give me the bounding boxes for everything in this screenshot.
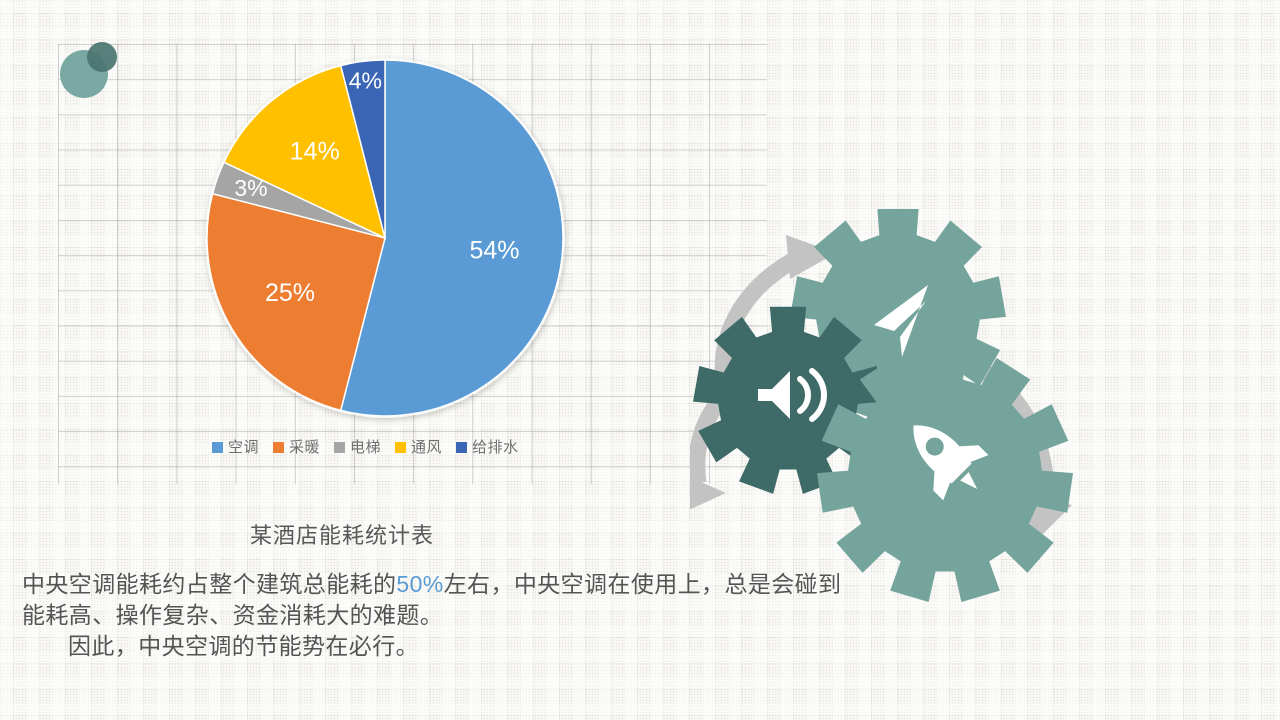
slide-canvas: 54%25%3%14%4% 空调采暖电梯通风给排水 某酒店能耗统计表 中央空调能…	[0, 0, 1280, 720]
legend-label: 通风	[411, 440, 442, 455]
pie-slice-label-通风: 14%	[290, 138, 340, 166]
legend-label: 空调	[228, 440, 259, 455]
legend-label: 给排水	[472, 440, 519, 455]
pie-chart-svg: 54%25%3%14%4%	[205, 58, 565, 418]
legend-label: 电梯	[350, 440, 381, 455]
legend-item-给排水[interactable]: 给排水	[456, 440, 519, 455]
legend-swatch-icon	[212, 442, 223, 453]
body-line1-before: 中央空调能耗约占整个建筑总能耗的	[22, 571, 396, 597]
legend-item-空调[interactable]: 空调	[212, 440, 259, 455]
legend-item-通风[interactable]: 通风	[395, 440, 442, 455]
legend-swatch-icon	[273, 442, 284, 453]
gears-illustration	[690, 175, 1140, 635]
pie-slice-label-采暖: 25%	[265, 279, 315, 307]
legend-item-采暖[interactable]: 采暖	[273, 440, 320, 455]
body-highlight-percent: 50%	[396, 571, 443, 597]
legend-label: 采暖	[289, 440, 320, 455]
overlapping-circles-logo	[60, 42, 116, 98]
pie-slice-label-电梯: 3%	[234, 175, 267, 201]
body-paragraph-2: 因此，中央空调的节能势在必行。	[22, 631, 862, 662]
chart-caption: 某酒店能耗统计表	[250, 518, 434, 550]
gears-svg	[690, 175, 1140, 635]
pie-chart: 54%25%3%14%4%	[205, 58, 565, 418]
legend-swatch-icon	[395, 442, 406, 453]
logo-small-circle-icon	[87, 42, 117, 72]
legend-swatch-icon	[334, 442, 345, 453]
legend-swatch-icon	[456, 442, 467, 453]
pie-slice-label-给排水: 4%	[349, 68, 382, 94]
chart-legend: 空调采暖电梯通风给排水	[212, 440, 519, 455]
pie-slice-label-空调: 54%	[469, 236, 519, 264]
legend-item-电梯[interactable]: 电梯	[334, 440, 381, 455]
